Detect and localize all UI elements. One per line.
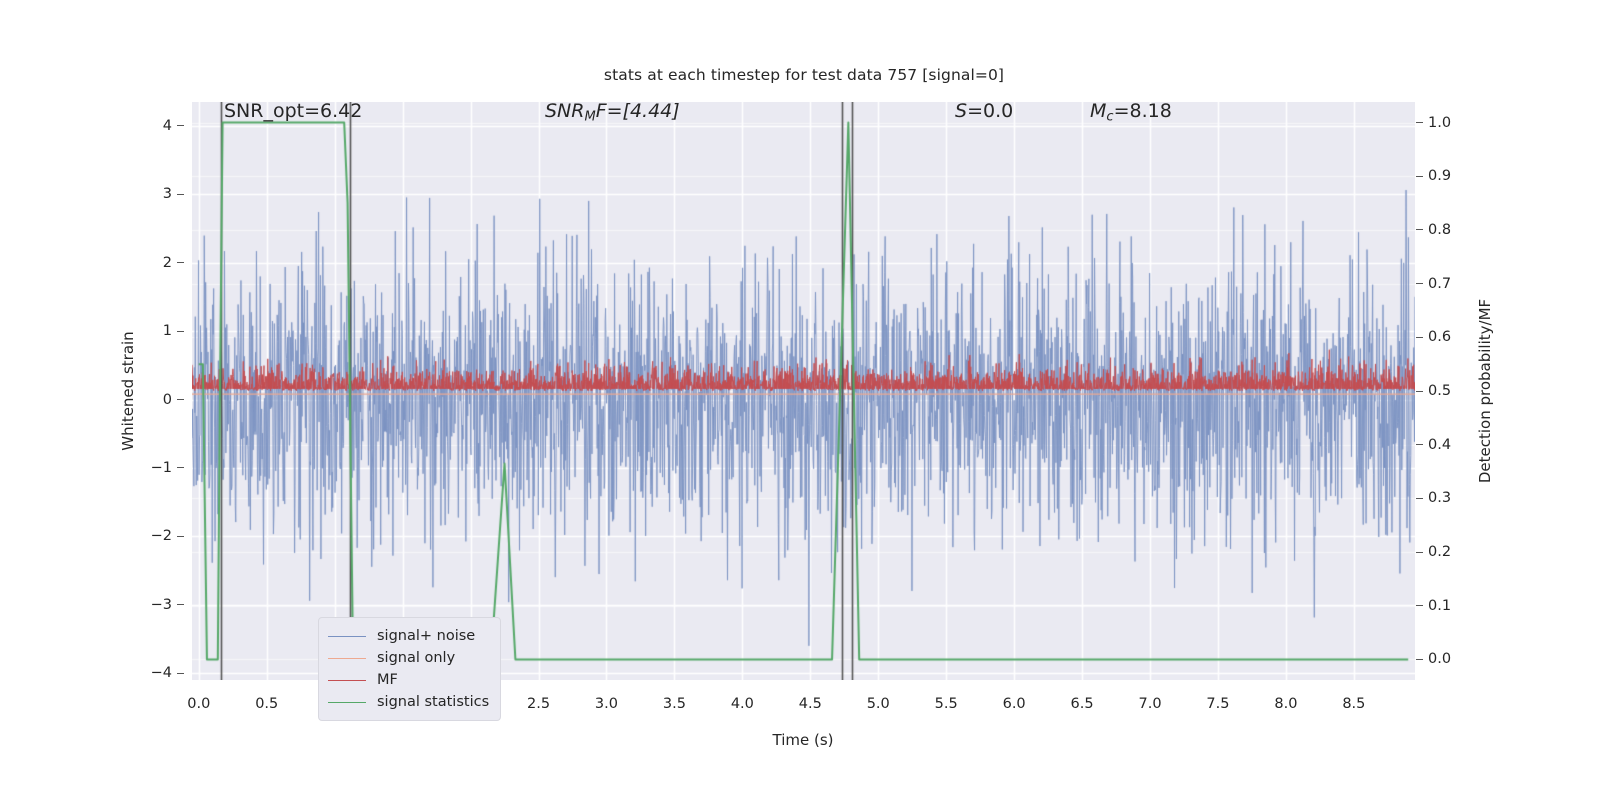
y-tick-left-6: −2 bbox=[151, 528, 184, 544]
x-tick-9: 4.5 bbox=[799, 696, 822, 712]
annotation-snr-mf-subscript: M bbox=[584, 109, 595, 124]
y-tick-right-label: 0.3 bbox=[1428, 490, 1451, 506]
legend-line-swatch bbox=[328, 636, 366, 637]
annotation-mc-symbol: M bbox=[1090, 100, 1106, 122]
plot-axes-area bbox=[192, 102, 1415, 680]
y-tick-right-7: 0.3 bbox=[1416, 490, 1451, 506]
tick-mark-icon bbox=[177, 399, 184, 400]
y-tick-left-3: 1 bbox=[163, 323, 184, 339]
x-tick-11: 5.5 bbox=[935, 696, 958, 712]
tick-mark-icon bbox=[177, 262, 184, 263]
x-tick-1: 0.5 bbox=[255, 696, 278, 712]
legend-item-label: signal+ noise bbox=[377, 628, 475, 644]
y-tick-right-label: 0.5 bbox=[1428, 383, 1451, 399]
legend-item-0[interactable]: signal+ noise bbox=[328, 625, 489, 647]
y-tick-right-9: 0.1 bbox=[1416, 598, 1451, 614]
y-tick-left-0: 4 bbox=[163, 118, 184, 134]
y-tick-right-8: 0.2 bbox=[1416, 544, 1451, 560]
y-tick-right-label: 0.8 bbox=[1428, 222, 1451, 238]
annotation-s-value: S=0.0 bbox=[955, 100, 1013, 122]
legend-item-3[interactable]: signal statistics bbox=[328, 691, 489, 713]
legend-item-label: signal statistics bbox=[377, 694, 489, 710]
y-tick-right-6: 0.4 bbox=[1416, 437, 1451, 453]
y-tick-left-7: −3 bbox=[151, 597, 184, 613]
y-tick-right-label: 0.2 bbox=[1428, 544, 1451, 560]
y-tick-left-2: 2 bbox=[163, 255, 184, 271]
annotation-mc-value: Mc=8.18 bbox=[1090, 100, 1172, 124]
plot-drawing-surface bbox=[192, 102, 1415, 680]
y-tick-right-2: 0.8 bbox=[1416, 222, 1451, 238]
y-tick-right-4: 0.6 bbox=[1416, 329, 1451, 345]
annotation-snr-mf: SNRMF=[4.44] bbox=[545, 100, 680, 124]
tick-mark-icon bbox=[177, 467, 184, 468]
x-tick-10: 5.0 bbox=[867, 696, 890, 712]
y-tick-right-label: 0.1 bbox=[1428, 598, 1451, 614]
legend-item-1[interactable]: signal only bbox=[328, 647, 489, 669]
y-tick-left-label: 3 bbox=[163, 186, 172, 202]
y-tick-left-4: 0 bbox=[163, 392, 184, 408]
y-tick-right-1: 0.9 bbox=[1416, 168, 1451, 184]
x-axis-label: Time (s) bbox=[773, 731, 834, 749]
y-tick-right-3: 0.7 bbox=[1416, 276, 1451, 292]
y-tick-right-0: 1.0 bbox=[1416, 115, 1451, 131]
legend-item-2[interactable]: MF bbox=[328, 669, 489, 691]
tick-mark-icon bbox=[1416, 552, 1423, 553]
legend-line-swatch bbox=[328, 658, 366, 659]
tick-mark-icon bbox=[1416, 229, 1423, 230]
x-tick-7: 3.5 bbox=[663, 696, 686, 712]
y-tick-right-label: 0.0 bbox=[1428, 651, 1451, 667]
x-tick-17: 8.5 bbox=[1342, 696, 1365, 712]
y-tick-left-1: 3 bbox=[163, 186, 184, 202]
tick-mark-icon bbox=[1416, 391, 1423, 392]
x-tick-12: 6.0 bbox=[1003, 696, 1026, 712]
tick-mark-icon bbox=[177, 331, 184, 332]
annotation-s-number: =0.0 bbox=[967, 100, 1013, 122]
figure-title: stats at each timestep for test data 757… bbox=[192, 66, 1416, 84]
y-tick-right-5: 0.5 bbox=[1416, 383, 1451, 399]
tick-mark-icon bbox=[177, 536, 184, 537]
annotation-snr-mf-prefix: SNR bbox=[545, 100, 584, 122]
x-tick-8: 4.0 bbox=[731, 696, 754, 712]
x-tick-6: 3.0 bbox=[595, 696, 618, 712]
annotation-s-symbol: S bbox=[955, 100, 967, 122]
x-tick-13: 6.5 bbox=[1071, 696, 1094, 712]
legend-line-swatch bbox=[328, 680, 366, 681]
tick-mark-icon bbox=[177, 194, 184, 195]
y-tick-left-label: −2 bbox=[151, 528, 172, 544]
y-tick-left-label: −1 bbox=[151, 460, 172, 476]
annotation-snr-opt: SNR_opt=6.42 bbox=[224, 100, 362, 122]
legend-item-label: MF bbox=[377, 672, 398, 688]
y-tick-right-label: 0.4 bbox=[1428, 437, 1451, 453]
y-tick-left-label: 0 bbox=[163, 392, 172, 408]
y-tick-left-8: −4 bbox=[151, 665, 184, 681]
annotation-mc-number: =8.18 bbox=[1114, 100, 1172, 122]
figure-canvas: stats at each timestep for test data 757… bbox=[0, 0, 1600, 800]
tick-mark-icon bbox=[1416, 444, 1423, 445]
y-tick-right-label: 0.9 bbox=[1428, 168, 1451, 184]
tick-mark-icon bbox=[177, 604, 184, 605]
tick-mark-icon bbox=[1416, 605, 1423, 606]
y-tick-right-10: 0.0 bbox=[1416, 651, 1451, 667]
y-tick-left-label: 2 bbox=[163, 255, 172, 271]
tick-mark-icon bbox=[1416, 283, 1423, 284]
x-tick-5: 2.5 bbox=[527, 696, 550, 712]
x-tick-15: 7.5 bbox=[1206, 696, 1229, 712]
y-tick-left-label: −3 bbox=[151, 597, 172, 613]
tick-mark-icon bbox=[1416, 337, 1423, 338]
x-tick-0: 0.0 bbox=[187, 696, 210, 712]
legend-line-swatch bbox=[328, 702, 366, 703]
y-tick-left-label: −4 bbox=[151, 665, 172, 681]
tick-mark-icon bbox=[177, 125, 184, 126]
y-tick-right-label: 1.0 bbox=[1428, 115, 1451, 131]
y-axis-right-label: Detection probability/MF bbox=[1476, 299, 1494, 483]
y-tick-left-label: 1 bbox=[163, 323, 172, 339]
y-tick-right-label: 0.6 bbox=[1428, 329, 1451, 345]
tick-mark-icon bbox=[1416, 176, 1423, 177]
x-tick-16: 8.0 bbox=[1274, 696, 1297, 712]
y-tick-left-label: 4 bbox=[163, 118, 172, 134]
tick-mark-icon bbox=[1416, 659, 1423, 660]
tick-mark-icon bbox=[1416, 122, 1423, 123]
legend-item-label: signal only bbox=[377, 650, 455, 666]
tick-mark-icon bbox=[1416, 498, 1423, 499]
tick-mark-icon bbox=[177, 673, 184, 674]
y-tick-left-5: −1 bbox=[151, 460, 184, 476]
x-tick-14: 7.0 bbox=[1138, 696, 1161, 712]
y-axis-left-label: Whitened strain bbox=[119, 331, 137, 450]
annotation-snr-mf-suffix: F=[4.44] bbox=[596, 100, 680, 122]
annotation-mc-subscript: c bbox=[1106, 109, 1113, 124]
legend-box: signal+ noisesignal onlyMFsignal statist… bbox=[318, 617, 501, 721]
y-tick-right-label: 0.7 bbox=[1428, 276, 1451, 292]
